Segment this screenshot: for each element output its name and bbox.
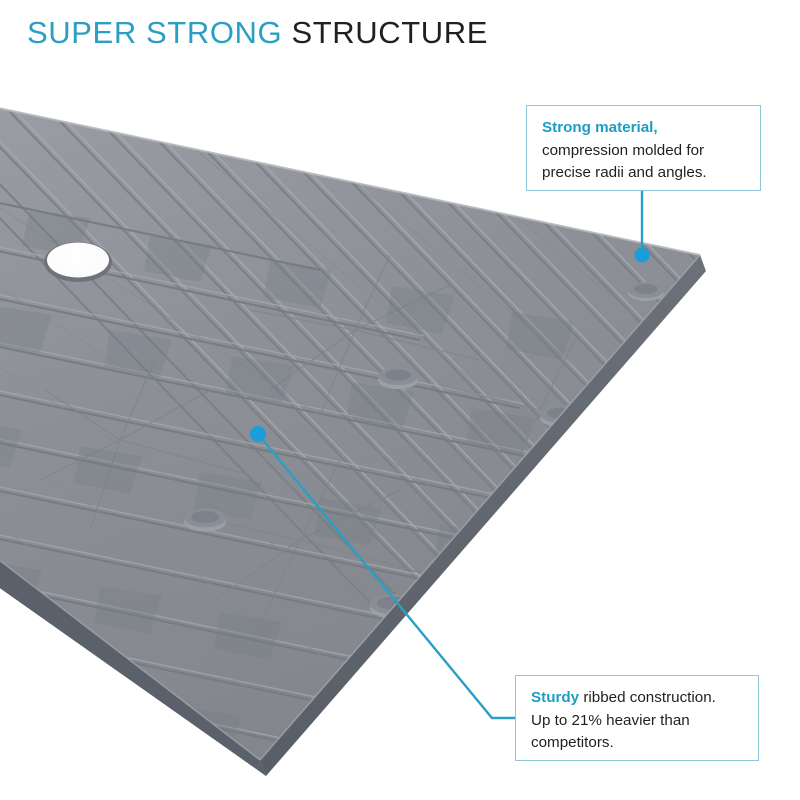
callout-material-line2: compression molded for <box>542 140 746 163</box>
callout-material-bold: Strong material, <box>542 119 658 136</box>
callout-material-line1: Strong material, <box>542 117 746 140</box>
infographic-canvas: SUPER STRONG STRUCTURE <box>0 0 800 800</box>
page-title: SUPER STRONG STRUCTURE <box>27 17 488 48</box>
boss <box>378 367 418 389</box>
callout-ribbed-line2: Up to 21% heavier than <box>531 710 744 733</box>
page-title-accent: SUPER STRONG <box>27 15 282 50</box>
callout-sturdy-ribbed[interactable]: Sturdy ribbed construction. Up to 21% he… <box>515 675 759 761</box>
callout-strong-material[interactable]: Strong material, compression molded for … <box>526 105 761 191</box>
callout-ribbed-bold: Sturdy <box>531 689 579 706</box>
callout-material-line3: precise radii and angles. <box>542 162 746 185</box>
callout-ribbed-line1: Sturdy ribbed construction. <box>531 687 744 710</box>
boss <box>184 509 226 532</box>
page-title-plain: STRUCTURE <box>291 15 488 50</box>
callout-ribbed-rest: ribbed construction. <box>579 689 716 706</box>
boss <box>628 282 664 301</box>
callout-ribbed-line3: competitors. <box>531 732 744 755</box>
drain-opening <box>44 242 112 282</box>
